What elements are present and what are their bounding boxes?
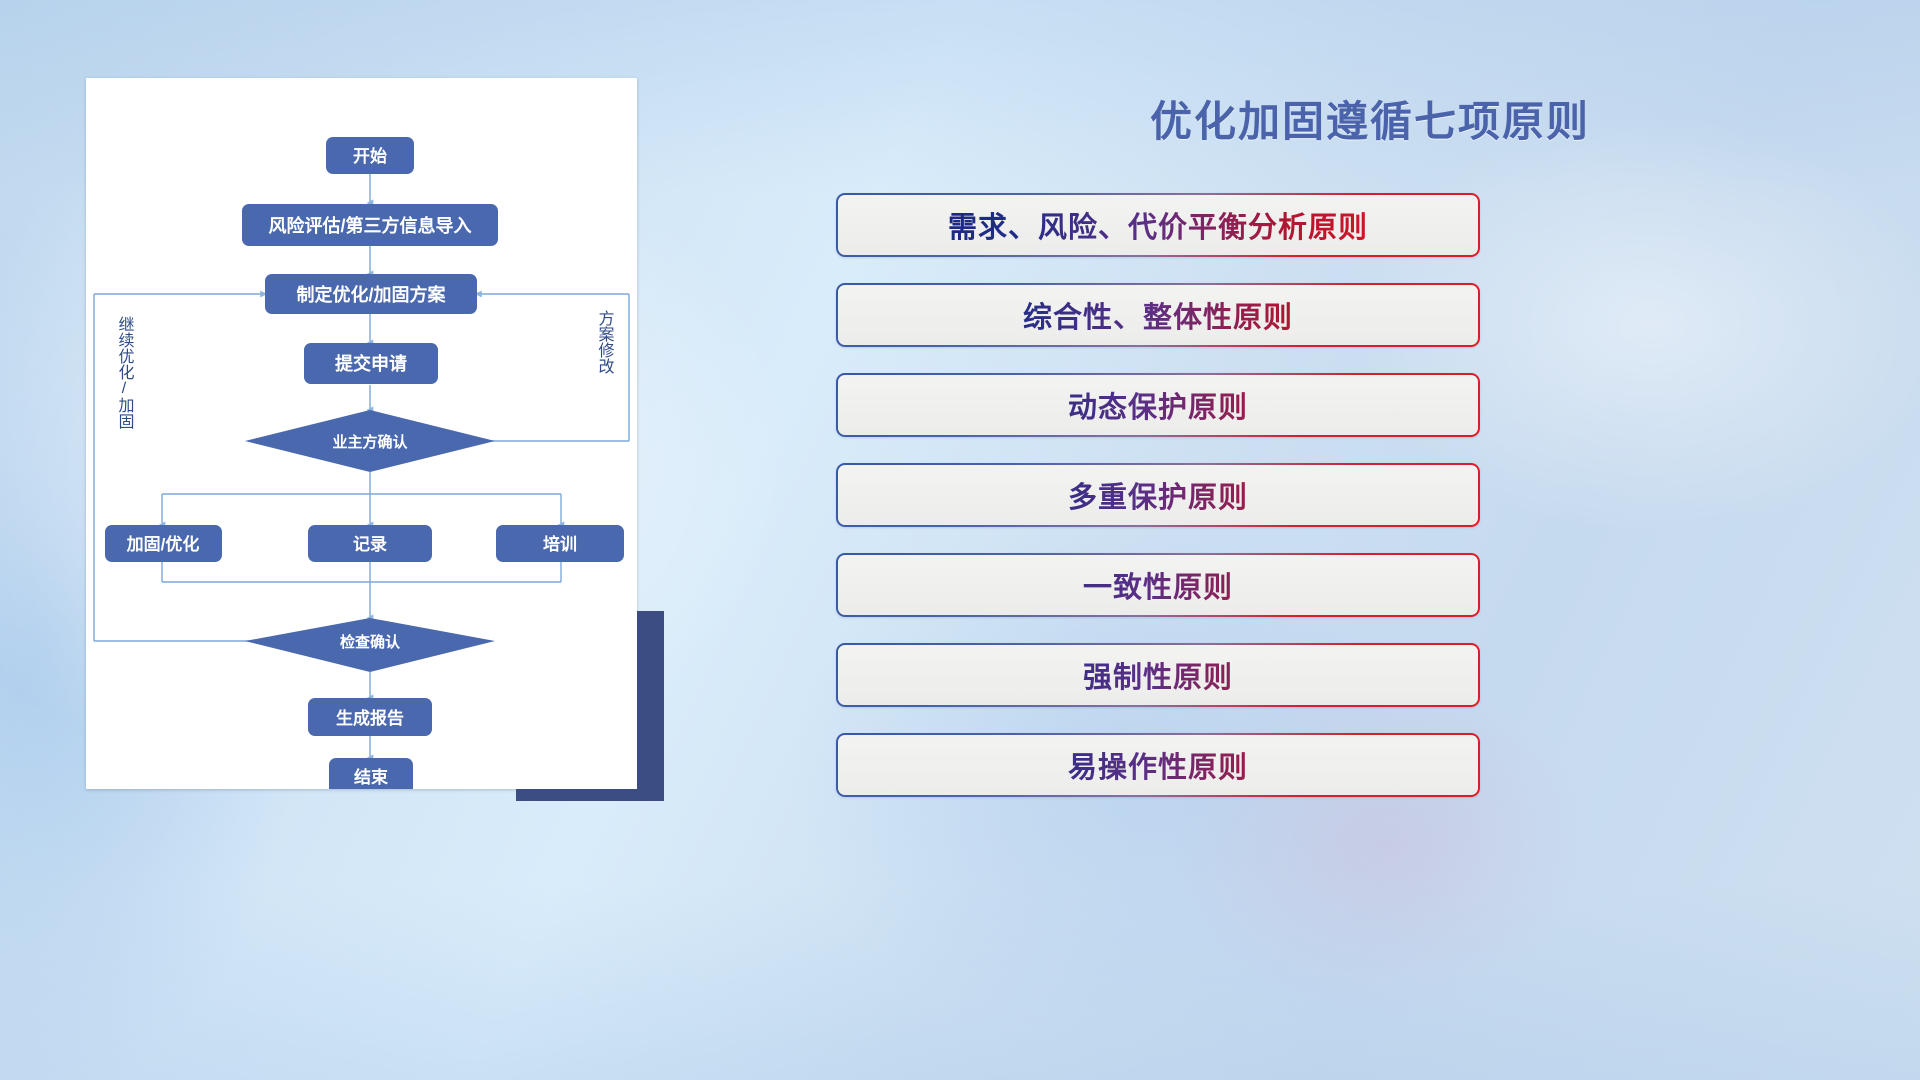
principle-card[interactable]: 易操作性原则 [836, 733, 1480, 797]
principle-label: 需求、风险、代价平衡分析原则 [836, 193, 1480, 257]
flow-node-submit: 提交申请 [304, 343, 438, 384]
flow-node-owner-confirm-label: 业主方确认 [332, 433, 408, 451]
principle-card[interactable]: 多重保护原则 [836, 463, 1480, 527]
principle-label: 多重保护原则 [836, 463, 1480, 527]
principle-label: 动态保护原则 [836, 373, 1480, 437]
principle-label: 强制性原则 [836, 643, 1480, 707]
flowchart-diagram: 开始 风险评估/第三方信息导入 制定优化/加固方案 提交申请 业主方确认 [86, 78, 637, 789]
principle-label: 一致性原则 [836, 553, 1480, 617]
principle-label: 综合性、整体性原则 [836, 283, 1480, 347]
flow-edge-label-plan-revision: 方案修改 [596, 310, 615, 374]
page-title: 优化加固遵循七项原则 [820, 88, 1920, 149]
principle-card[interactable]: 需求、风险、代价平衡分析原则 [836, 193, 1480, 257]
flow-node-risk-label: 风险评估/第三方信息导入 [269, 215, 472, 236]
flow-node-make-plan: 制定优化/加固方案 [265, 274, 477, 314]
flow-node-start-label: 开始 [353, 146, 387, 166]
flow-node-risk-assessment: 风险评估/第三方信息导入 [242, 204, 498, 246]
principle-card[interactable]: 强制性原则 [836, 643, 1480, 707]
flow-node-training-label: 培训 [543, 534, 577, 554]
flow-node-start: 开始 [326, 137, 414, 174]
flowchart-panel: 开始 风险评估/第三方信息导入 制定优化/加固方案 提交申请 业主方确认 [0, 0, 820, 1080]
principles-list: 需求、风险、代价平衡分析原则 综合性、整体性原则 动态保护原则 多重保护原则 一… [836, 193, 1496, 823]
flow-node-end-label: 结束 [354, 767, 388, 787]
flow-node-submit-label: 提交申请 [335, 353, 407, 374]
flow-node-reinforce-label: 加固/优化 [126, 534, 200, 554]
flow-node-check-confirm: 检查确认 [245, 618, 495, 672]
flow-node-reinforce: 加固/优化 [105, 525, 222, 562]
flow-node-check-confirm-label: 检查确认 [340, 633, 401, 651]
flow-node-make-plan-label: 制定优化/加固方案 [296, 284, 446, 305]
principles-panel: 优化加固遵循七项原则 需求、风险、代价平衡分析原则 综合性、整体性原则 动态保护… [820, 0, 1920, 1080]
flow-node-training: 培训 [496, 525, 624, 562]
principle-card[interactable]: 动态保护原则 [836, 373, 1480, 437]
flow-node-record-label: 记录 [353, 535, 387, 554]
flowchart-white-card: 开始 风险评估/第三方信息导入 制定优化/加固方案 提交申请 业主方确认 [86, 78, 637, 789]
principle-card[interactable]: 综合性、整体性原则 [836, 283, 1480, 347]
flow-node-generate-report-label: 生成报告 [336, 708, 404, 728]
flow-node-generate-report: 生成报告 [308, 698, 432, 736]
flow-node-record: 记录 [308, 525, 432, 562]
flow-node-end: 结束 [329, 758, 413, 789]
flow-node-owner-confirm: 业主方确认 [245, 410, 495, 472]
principle-card[interactable]: 一致性原则 [836, 553, 1480, 617]
flow-edge-label-continue-optimize: 继续优化/加固 [116, 316, 135, 429]
principle-label: 易操作性原则 [836, 733, 1480, 797]
